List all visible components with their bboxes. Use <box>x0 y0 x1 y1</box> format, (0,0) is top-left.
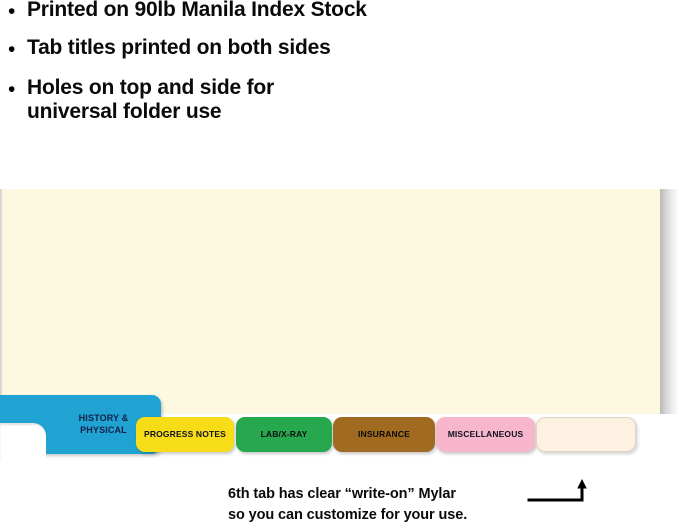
tab-label: PROGRESS NOTES <box>144 429 226 440</box>
bullet-icon: • <box>8 79 27 100</box>
feature-text: Holes on top and side for universal fold… <box>27 76 274 125</box>
tab-label: HISTORY & PHYSICAL <box>79 413 129 436</box>
feature-text: Tab titles printed on both sides <box>27 36 331 60</box>
tab-insurance[interactable]: INSURANCE <box>333 417 435 452</box>
feature-list-item: • Holes on top and side for universal fo… <box>0 76 274 125</box>
tab-progress-notes[interactable]: PROGRESS NOTES <box>136 417 234 452</box>
tab-blank-mylar[interactable] <box>536 417 636 452</box>
up-left-elbow-arrow-icon <box>527 478 591 512</box>
manila-page-shadow <box>660 189 679 414</box>
tab-label: MISCELLANEOUS <box>448 429 524 440</box>
bullet-icon: • <box>8 1 27 22</box>
feature-text: Printed on 90lb Manila Index Stock <box>27 0 367 22</box>
feature-list-item: • Printed on 90lb Manila Index Stock <box>0 0 367 22</box>
feature-list-item: • Tab titles printed on both sides <box>0 36 331 60</box>
tab-label: INSURANCE <box>358 429 410 440</box>
manila-page-left-edge <box>0 189 3 414</box>
tab-lab-xray[interactable]: LAB/X-RAY <box>236 417 332 452</box>
index-tab-strip: HISTORY & PHYSICAL PROGRESS NOTES LAB/X-… <box>0 392 679 462</box>
caption-text: 6th tab has clear “write-on” Mylar so yo… <box>228 484 528 525</box>
tab-miscellaneous[interactable]: MISCELLANEOUS <box>436 417 535 452</box>
tab-notch-cutout <box>0 423 46 459</box>
manila-folder-page <box>0 189 660 414</box>
bullet-icon: • <box>8 39 27 60</box>
tab-label: LAB/X-RAY <box>261 429 308 440</box>
